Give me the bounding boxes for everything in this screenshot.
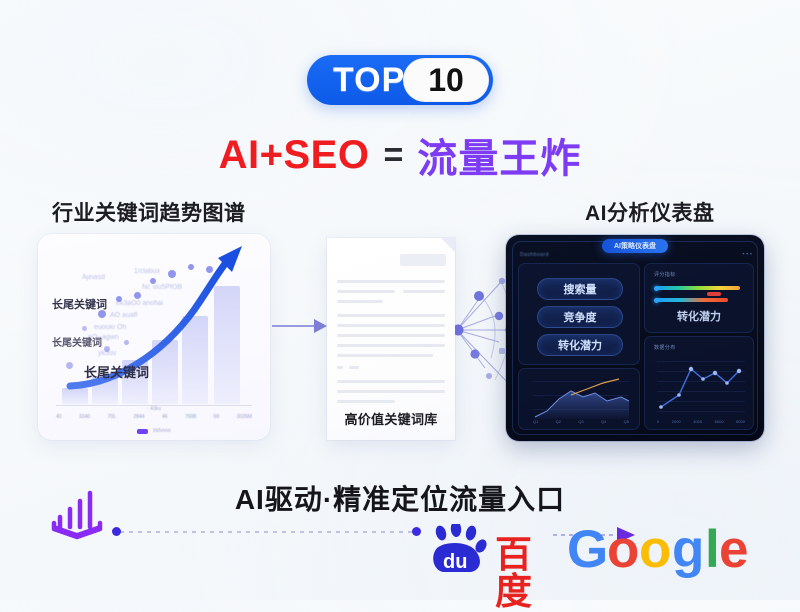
page-title: AI+SEO = 流量王炸 <box>0 126 800 184</box>
trend-chart-card: Ajeiasd 1/clabux Nc slu5PfOB ek3aO0 anof… <box>38 234 270 440</box>
google-letter-o1: o <box>607 523 639 576</box>
gauge-panel-title: 评分指标 <box>654 271 676 278</box>
connector-dot-right <box>412 527 421 536</box>
google-logo: G o o g l e <box>567 523 747 583</box>
tick: 2000 <box>672 419 681 424</box>
dashboard-title-badge: AI策略仪表盘 <box>602 239 668 253</box>
top-rank-badge: TOP 10 <box>307 55 493 105</box>
google-letter-l: l <box>705 523 720 576</box>
slide-canvas: TOP 10 AI+SEO = 流量王炸 行业关键词趋势图谱 AI分析仪表盘 <box>0 0 800 600</box>
document-header-chip <box>400 254 446 266</box>
top-badge-number: 10 <box>403 58 489 102</box>
area-chart-panel: Q1 Q2 Q3 Q4 Q5 <box>518 368 640 430</box>
tick: Q2 <box>556 419 561 424</box>
section-label-trend: 行业关键词趋势图谱 <box>52 197 246 227</box>
tick: 6000 <box>715 419 724 424</box>
title-equals: = <box>383 136 403 175</box>
metric-pill-conversion[interactable]: 转化潜力 <box>537 334 623 356</box>
trend-legend: trkfvnnn <box>38 428 270 434</box>
footer-connector-line <box>120 531 420 533</box>
tick: 70L <box>108 414 116 420</box>
trend-keyword-2: 长尾关键词 <box>52 334 102 349</box>
metric-pill-search-volume[interactable]: 搜索量 <box>537 278 623 300</box>
keyword-library-document: 高价值关键词库 <box>327 238 455 440</box>
title-right: 流量王炸 <box>417 126 581 184</box>
legend-swatch <box>137 429 148 434</box>
dashboard-menu-dots[interactable]: • • • <box>742 252 752 258</box>
tick: 3340 <box>79 414 90 420</box>
score-gauge-panel: 评分指标 转化潜力 <box>644 263 754 333</box>
bar-chart-pedestal-icon <box>44 483 110 545</box>
metric-pill-competition[interactable]: 竞争度 <box>537 306 623 328</box>
footer-tagline: AI驱动·精准定位流量入口 <box>0 478 800 518</box>
area-chart-ticks: Q1 Q2 Q3 Q4 Q5 <box>533 419 629 424</box>
google-letter-G: G <box>567 523 608 576</box>
svg-text:du: du <box>443 551 467 573</box>
trend-keyword-1: 长尾关键词 <box>52 296 107 312</box>
line-chart-ticks: 0 2000 4000 6000 8000 <box>657 419 745 424</box>
area-chart-svg <box>533 375 631 419</box>
trend-chart-body: Ajeiasd 1/clabux Nc slu5PfOB ek3aO0 anof… <box>38 234 270 440</box>
tick: Q4 <box>601 419 606 424</box>
google-letter-e: e <box>719 523 748 576</box>
ai-dashboard-panel: AI策略仪表盘 Dashboard • • • 搜索量 竞争度 转化潜力 <box>506 235 764 441</box>
gauge-overlay-label: 转化潜力 <box>645 308 753 324</box>
legend-label: trkfvnnn <box>153 428 171 434</box>
trend-axis-ticks: 40 3340 70L 2844 46 7698 69 3026M <box>56 414 252 420</box>
tick: 2844 <box>133 414 144 420</box>
tick: 7698 <box>185 414 196 420</box>
tick: Q1 <box>533 419 538 424</box>
tick: 0 <box>657 419 659 424</box>
trend-growth-arrow <box>46 238 270 414</box>
tick: 4000 <box>693 419 702 424</box>
metrics-panel: 搜索量 竞争度 转化潜力 <box>518 263 640 365</box>
top-badge-label: TOP <box>333 63 405 97</box>
tick: 8000 <box>736 419 745 424</box>
flow-arrow-right <box>272 315 328 337</box>
line-chart-svg <box>657 355 747 417</box>
tick: Q3 <box>578 419 583 424</box>
tick: Q5 <box>624 419 629 424</box>
baidu-logo: du 百度 <box>423 524 563 582</box>
document-fold-corner <box>441 238 455 252</box>
tick: 69 <box>214 414 220 420</box>
baidu-wordmark: 百度 <box>495 536 563 610</box>
connector-dot-left <box>112 527 121 536</box>
tick: 46 <box>162 414 168 420</box>
title-left: AI+SEO <box>219 133 370 178</box>
line-panel-title: 数据分布 <box>654 344 676 351</box>
tick: 3026M <box>237 414 252 420</box>
google-letter-g: g <box>672 523 704 576</box>
document-label: 高价值关键词库 <box>327 409 455 428</box>
google-letter-o2: o <box>639 523 671 576</box>
distribution-chart-panel: 数据分布 0 2000 4000 6000 8000 <box>644 336 754 430</box>
trend-subcaption: · 43ku <box>38 406 270 412</box>
tick: 40 <box>56 414 62 420</box>
section-label-dashboard: AI分析仪表盘 <box>585 197 715 227</box>
dashboard-corner-label: Dashboard <box>520 252 549 258</box>
trend-keyword-3: 长尾关键词 <box>84 362 149 381</box>
